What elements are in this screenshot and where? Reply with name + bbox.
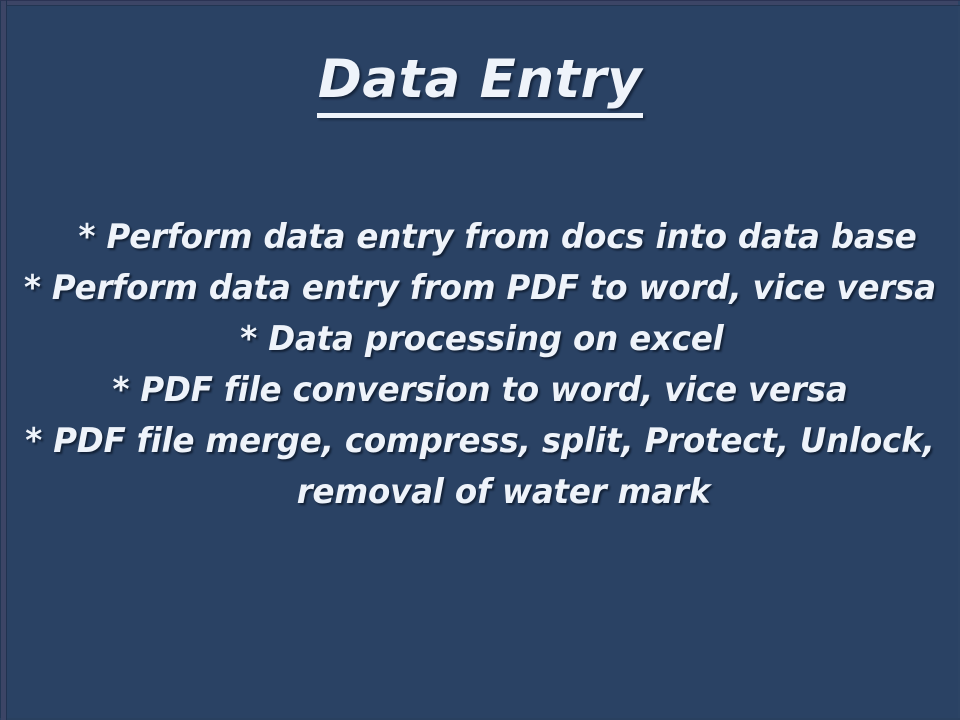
slide-frame-top-hairline xyxy=(0,0,960,1)
bullet-item: * Perform data entry from PDF to word, v… xyxy=(22,263,939,314)
bullet-item-continuation: removal of water mark xyxy=(22,467,960,518)
slide-frame-top-line xyxy=(0,5,960,6)
bullet-item: * PDF file conversion to word, vice vers… xyxy=(22,365,939,416)
slide-title: Data Entry xyxy=(314,52,646,108)
bullet-item: * Data processing on excel xyxy=(22,314,941,365)
bullet-item: * PDF file merge, compress, split, Prote… xyxy=(22,416,939,467)
slide-title-underline xyxy=(317,113,643,118)
slide-title-block: Data Entry xyxy=(0,52,960,118)
presentation-slide: Data Entry * Perform data entry from doc… xyxy=(0,0,960,720)
slide-bullet-list: * Perform data entry from docs into data… xyxy=(0,212,960,518)
bullet-item: * Perform data entry from docs into data… xyxy=(22,212,956,263)
